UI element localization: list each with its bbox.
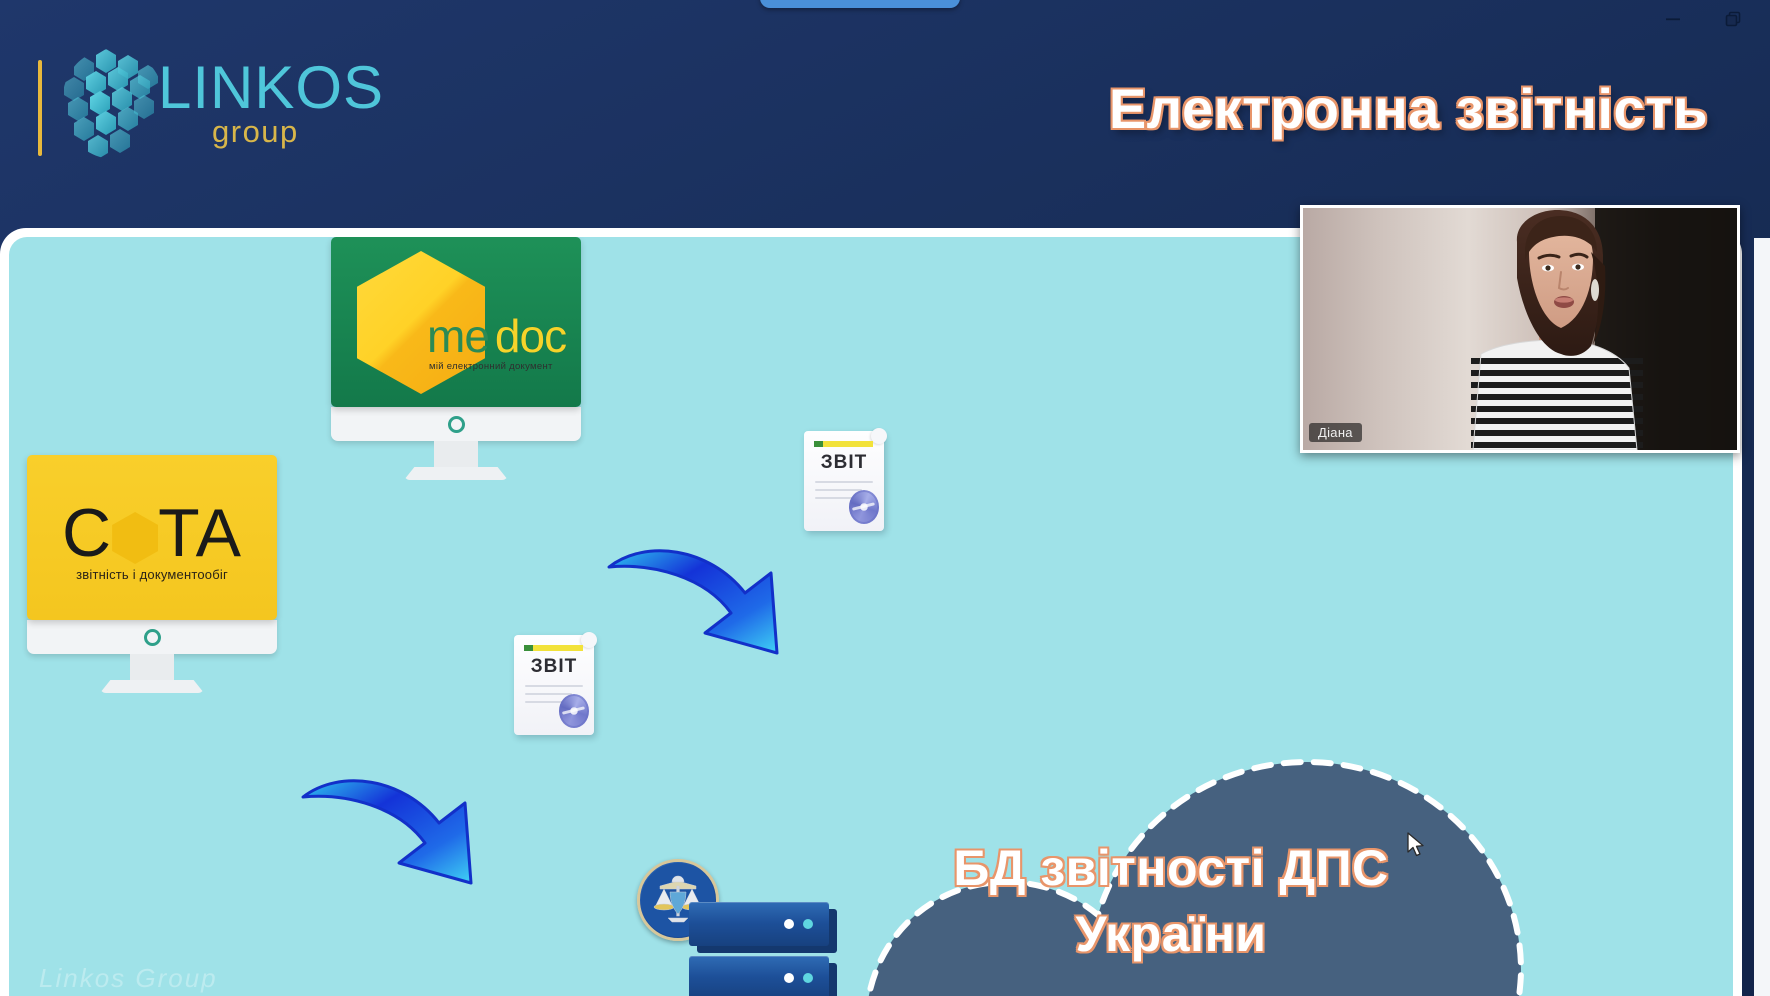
participant-video-feed (1303, 208, 1737, 450)
conference-app-window: LINKOS group Електронна звітність (0, 0, 1770, 996)
cota-monitor: CTA звітність і документообіг (27, 455, 277, 693)
linkos-wordmark: LINKOS group (158, 59, 384, 150)
slide-watermark: Linkos Group (39, 963, 218, 994)
cota-tagline: звітність і документообіг (76, 567, 228, 582)
linkos-hex-sphere-icon (58, 45, 168, 163)
participant-video-tile[interactable]: Діана (1300, 205, 1740, 453)
report-document: ЗВІТ (514, 635, 594, 735)
monitor-base (404, 467, 508, 480)
monitor-chin (27, 620, 277, 654)
logo-accent-bar (38, 60, 42, 156)
medoc-monitor: medoc мій електронний документ (331, 237, 581, 480)
server-led-white (784, 919, 794, 929)
cota-word-ta: TA (158, 495, 242, 571)
digital-signature-seal-icon (849, 490, 879, 524)
monitor-power-dot-icon (448, 416, 465, 433)
doc-header-bar (524, 645, 583, 651)
monitor-chin (331, 407, 581, 441)
cloud-database-graphic: БД звітності ДПС України (601, 647, 1649, 996)
monitor-power-dot-icon (144, 629, 161, 646)
monitor-neck (434, 441, 478, 467)
monitor-base (100, 680, 204, 693)
server-stack (689, 902, 849, 996)
linkos-logo: LINKOS group (38, 45, 384, 163)
medoc-wordmark: medoc (427, 313, 566, 359)
page-title: Електронна звітність (1109, 76, 1708, 141)
medoc-tagline: мій електронний документ (429, 361, 553, 372)
report-label: ЗВІТ (514, 656, 594, 678)
cota-screen: CTA звітність і документообіг (27, 455, 277, 620)
paper-curl-icon (581, 632, 597, 648)
arrow-medoc-to-report-icon (605, 537, 805, 662)
slide-right-edge (1754, 238, 1770, 996)
cota-hexagon-o-icon (112, 512, 158, 564)
medoc-word-me: me (427, 310, 489, 362)
cota-word-c: C (62, 495, 112, 571)
server-led-cyan (803, 973, 813, 983)
monitor-neck (130, 654, 174, 680)
server-unit (689, 956, 849, 996)
participant-name-badge: Діана (1309, 423, 1362, 442)
server-led-cyan (803, 919, 813, 929)
server-unit (689, 902, 849, 946)
medoc-screen: medoc мій електронний документ (331, 237, 581, 407)
doc-header-bar (814, 441, 873, 447)
medoc-word-doc: doc (495, 310, 566, 362)
slide-header: LINKOS group Електронна звітність (0, 0, 1770, 232)
logo-word: LINKOS (158, 59, 384, 116)
arrow-cota-to-report-icon (299, 767, 499, 892)
server-led-white (784, 973, 794, 983)
report-document: ЗВІТ (804, 431, 884, 531)
cota-wordmark: CTA (62, 499, 242, 567)
paper-curl-icon (871, 428, 887, 444)
digital-signature-seal-icon (559, 694, 589, 728)
report-label: ЗВІТ (804, 452, 884, 474)
